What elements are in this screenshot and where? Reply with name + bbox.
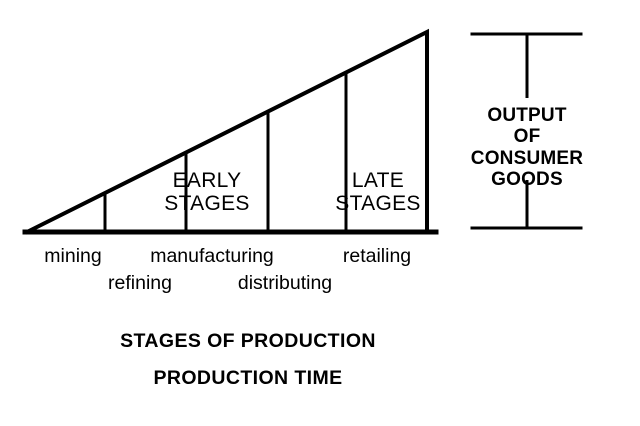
stage-band-early-line2: STAGES: [164, 193, 249, 214]
process-label-refining: refining: [108, 274, 172, 294]
stage-band-early-line1: EARLY: [173, 169, 242, 192]
output-bracket-label: OUTPUT OF CONSUMER GOODS: [471, 105, 583, 190]
stage-band-label-early: EARLY STAGES: [164, 170, 249, 214]
stage-band-label-late: LATE STAGES: [335, 170, 420, 214]
caption-production-time: PRODUCTION TIME: [153, 369, 342, 389]
diagram-canvas: [0, 0, 640, 426]
output-bracket-line-1: OUTPUT: [471, 105, 583, 126]
output-bracket-line-2: OF: [471, 126, 583, 147]
process-label-distributing: distributing: [238, 274, 332, 294]
production-stages-figure: EARLY STAGES LATE STAGES mining manufact…: [0, 0, 640, 426]
process-label-manufacturing: manufacturing: [150, 247, 274, 267]
stage-band-late-line2: STAGES: [335, 193, 420, 214]
stage-band-late-line1: LATE: [352, 169, 404, 192]
process-label-retailing: retailing: [343, 247, 411, 267]
process-label-mining: mining: [44, 247, 101, 267]
caption-stages-of-production: STAGES OF PRODUCTION: [120, 332, 376, 352]
output-bracket-line-3: CONSUMER: [471, 148, 583, 169]
output-bracket-line-4: GOODS: [471, 169, 583, 190]
